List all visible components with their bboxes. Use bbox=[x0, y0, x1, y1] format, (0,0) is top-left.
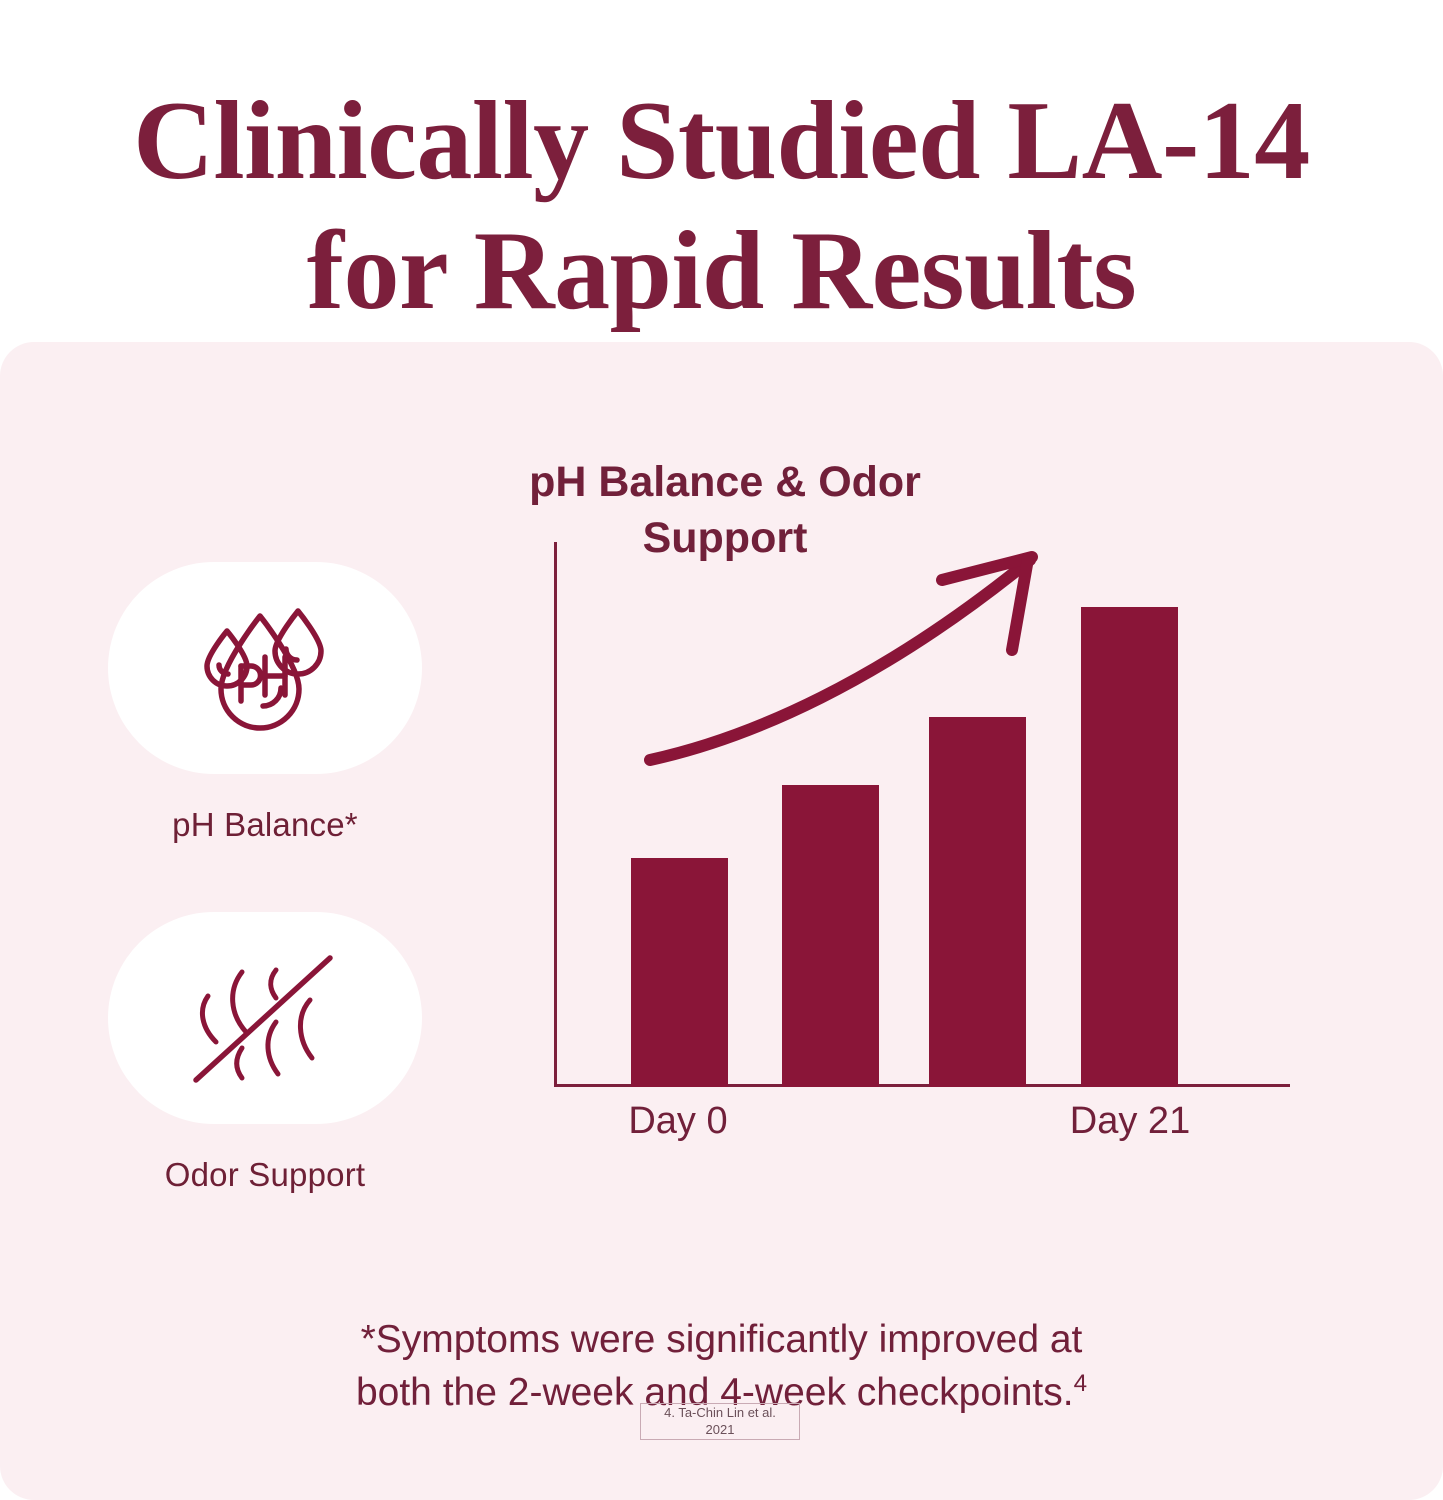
claims-panel: pH Balance* bbox=[0, 342, 1443, 1500]
feature-odor-support: Odor Support bbox=[108, 912, 422, 1194]
feature-icon-pill-ph bbox=[108, 562, 422, 774]
footnote-superscript: 4 bbox=[1074, 1370, 1087, 1397]
bar-day-7 bbox=[782, 785, 879, 1087]
bar-day-14 bbox=[929, 717, 1026, 1087]
bar-day-21 bbox=[1081, 607, 1178, 1087]
page-title: Clinically Studied LA-14 for Rapid Resul… bbox=[0, 77, 1443, 337]
x-tick-day-0: Day 0 bbox=[588, 1100, 768, 1143]
feature-label-ph-balance: pH Balance* bbox=[108, 806, 422, 844]
citation-box: 4. Ta-Chin Lin et al. 2021 bbox=[640, 1403, 800, 1440]
bar-day-0 bbox=[631, 858, 728, 1087]
feature-ph-balance: pH Balance* bbox=[108, 562, 422, 844]
chart-y-axis bbox=[554, 542, 557, 1087]
promo-image-root: Clinically Studied LA-14 for Rapid Resul… bbox=[0, 0, 1443, 1500]
ph-droplet-icon bbox=[185, 593, 345, 743]
citation-line-2: 2021 bbox=[706, 1422, 735, 1439]
citation-line-1: 4. Ta-Chin Lin et al. bbox=[664, 1405, 776, 1422]
no-odor-icon bbox=[190, 948, 340, 1088]
feature-label-odor-support: Odor Support bbox=[108, 1156, 422, 1194]
x-tick-day-21: Day 21 bbox=[1040, 1100, 1220, 1143]
feature-icon-pill-odor bbox=[108, 912, 422, 1124]
footnote-text: *Symptoms were significantly improved at… bbox=[356, 1318, 1082, 1414]
bar-chart: Day 0 Day 21 bbox=[540, 542, 1300, 1202]
